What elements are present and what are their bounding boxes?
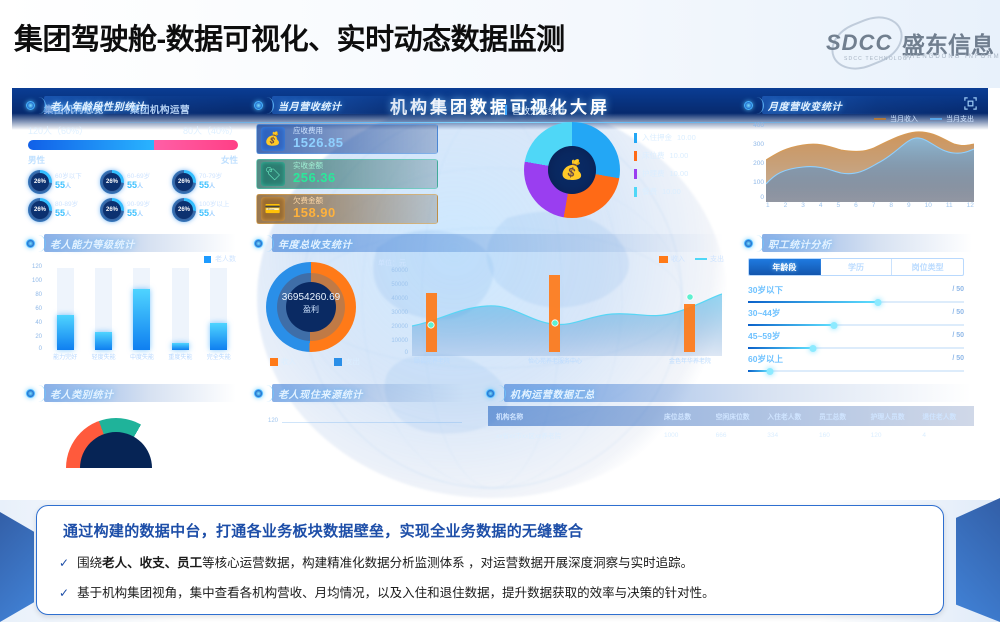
progress-knob[interactable] [874,299,881,306]
panel-header: 当月营收统计 [250,96,480,116]
bar-column [57,268,74,350]
panel-title: 老人能力等级统计 [50,236,135,251]
th-resident-count: 入住老人数 [767,411,819,421]
legend-swatch [270,358,278,366]
employee-age-label: 30岁以下 [748,284,783,296]
panel-annual-revenue: 年度总收支统计 36954260.69 盈利 收入 支出 单位：元 收入 支出 … [250,234,732,376]
tab-age-group[interactable]: 年龄段 [749,259,821,275]
check-icon: ✓ [59,556,69,570]
company-logo: SDCC 盛东信息 SDCC TECHNOLOGY SHENGDONG INFO… [824,18,992,70]
chart-legend: 老人数 [204,254,236,264]
x-tick: 金色年华养老院 [669,356,711,365]
legend-label: 收入 [281,356,296,367]
legend-swatch [930,118,942,120]
y-tick: 20 [35,334,42,340]
legend-item-income: 收入 [659,254,685,264]
received-text: 实收金额 256.36 [293,162,336,186]
bar-total [210,323,227,350]
x-tick: 5 [837,202,841,209]
y-tick: 200 [753,160,764,167]
panel-header: 年度总收支统计 [250,234,732,254]
panel-header: 职工统计分析 [740,234,980,254]
chart-x-axis: 1 2 3 4 5 6 7 8 9 10 11 12 [766,202,974,209]
legend-item: 餐费 10.00 [634,186,696,197]
age-range-unit: 人 [137,184,143,190]
panel-elderly-age-gender: 老人年龄段性别统计 120人（60%） 80人（40%） 男性 女性 60岁以下… [22,96,244,228]
age-ring-icon [100,170,124,194]
progress-track[interactable] [748,347,964,349]
th-staff-total: 员工总数 [819,411,871,421]
bar-moderate [133,289,150,350]
legend-swatch [334,358,342,366]
panel-elderly-category: 老人类别统计 [22,384,244,504]
y-tick: 50000 [391,282,408,288]
td-resident-count: 334 [767,432,819,439]
age-range-count: 55 [127,208,137,218]
x-tick: 中度失能 [126,352,158,361]
legend-label: 老人数 [215,254,236,264]
age-ring-icon [172,170,196,194]
panel-revenue-category: 营收分类统计 💰 入住押金 10.00 床位费 10.00 护理费 10.00 … [482,102,732,228]
legend-item-income: 收入 [270,356,296,367]
annual-profit-label: 盈利 [252,305,370,315]
employee-row: 60岁以上 5/ 50 [748,353,964,379]
legend-item: 入住押金 10.00 [634,132,696,143]
arrears-text: 欠费金额 158.90 [293,197,336,221]
legend-swatch [204,256,211,263]
source-gridline [282,422,462,423]
age-range-value: 55人 [199,209,229,219]
left-blue-decoration [0,512,34,622]
x-tick: 完全失能 [203,352,235,361]
td-free-beds: 666 [716,432,768,439]
receivable-text: 应收费用 1526.85 [293,127,344,151]
employee-age-label: 30~44岁 [748,307,780,319]
bar-column [133,268,150,350]
age-ring-text: 60-69岁 55人 [127,173,150,190]
chart-y-axis: 400 300 200 100 0 [740,122,766,202]
legend-value: 10.00 [662,187,681,196]
annual-center-text: 36954260.69 盈利 [252,292,370,315]
employee-count: 30 [939,280,952,294]
female-label: 女性 [221,154,238,166]
bar-column [210,268,227,350]
gender-labels: 男性 女性 [28,154,238,166]
x-tick: 颐福苑养老院 [414,356,450,365]
legend-item-expense: 支出 [695,254,724,264]
cash-box-icon: 🏷 [261,162,285,186]
male-label: 男性 [28,154,45,166]
debt-icon: 💳 [261,197,285,221]
bar-ability-good [57,315,74,350]
legend-label: 护理费 [642,168,665,179]
age-ring-text: 100岁以上 55人 [199,201,229,218]
legend-label: 入住押金 [642,132,672,143]
legend-label: 支出 [345,356,360,367]
chart-legend: 当月收入 当月支出 [874,114,974,124]
y-tick: 30000 [391,310,408,316]
y-tick: 100 [753,179,764,186]
institution-chart-legend: 收入 支出 [659,254,724,264]
arrears-value: 158.90 [293,206,336,221]
revenue-category-legend: 入住押金 10.00 床位费 10.00 护理费 10.00 餐费 10.00 [634,132,696,204]
age-ring-icon [100,198,124,222]
panel-header: 老人能力等级统计 [22,234,244,254]
progress-knob[interactable] [831,322,838,329]
employee-value: 30/ 50 [939,280,964,294]
received-row: 🏷 实收金额 256.36 [256,159,438,189]
age-ring-item: 100岁以上 55人 [172,198,244,222]
panel-title: 老人年龄段性别统计 [50,98,145,113]
age-range-count: 55 [127,180,137,190]
y-tick: 60000 [391,268,408,274]
legend-swatch [634,133,637,143]
td-total-beds: 1000 [664,432,716,439]
receivable-row: 💰 应收费用 1526.85 [256,124,438,154]
panel-monthly-revenue-chart: 月度营收变统计 当月收入 当月支出 400 300 200 100 0 [740,96,980,226]
employee-value: 5/ 50 [946,349,964,363]
callout-item-1: ✓围绕老人、收支、员工等核心运营数据，构建精准化数据分析监测体系 ，对运营数据开… [59,552,693,571]
age-range-value: 55人 [127,181,150,191]
annual-profit-value: 36954260.69 [252,292,370,305]
y-tick: 10000 [391,338,408,344]
age-ring-text: 60岁以下 55人 [55,173,82,190]
panel-title: 当月营收统计 [278,98,342,113]
legend-label: 支出 [710,254,724,264]
x-tick: 能力完好 [49,352,81,361]
x-tick: 6 [854,202,858,209]
y-tick: 0 [405,350,408,356]
panel-elderly-ability-level: 老人能力等级统计 老人数 120 100 80 60 40 20 0 [22,234,244,376]
th-free-beds: 空闲床位数 [716,411,768,421]
slide-header: 集团驾驶舱-数据可视化、实时动态数据监测 SDCC 盛东信息 SDCC TECH… [0,0,1000,88]
institution-chart-plot [412,268,722,352]
tab-education[interactable]: 学历 [821,259,893,275]
panel-header: 机构运营数据汇总 [482,384,980,404]
legend-label: 收入 [671,254,685,264]
logo-en-name: SHENGDONG INFORMATION [904,54,1000,60]
employee-total: / 50 [952,286,964,293]
panel-employee-statistics: 职工统计分析 年龄段 学历 岗位类型 30岁以下 30/ 50 30~44岁 2… [740,234,980,376]
female-count-text: 80人（40%） [183,124,238,137]
institution-table: 机构名称 床位总数 空闲床位数 入住老人数 员工总数 护理人员数 退住老人数 x… [488,406,974,444]
received-value: 256.36 [293,171,336,186]
age-ring-icon [28,170,52,194]
legend-item: 护理费 10.00 [634,168,696,179]
y-tick: 120 [32,264,42,270]
panel-header: 老人年龄段性别统计 [22,96,244,116]
callout-text-1-bold: 老人、收支、员工 [102,556,202,570]
chart-y-axis: 120 100 80 60 40 20 0 [22,264,44,350]
td-checkout-count: 4 [922,432,974,439]
x-tick: 7 [872,202,876,209]
chart-y-axis: 60000 50000 40000 30000 20000 10000 0 [374,268,410,352]
area-chart-svg [766,126,974,202]
progress-fill [748,347,813,349]
td-institution-name: xx省xx市xx区xx养老院 [488,430,664,440]
age-range-count: 55 [55,180,65,190]
employee-count: 15 [939,326,952,340]
age-ring-icon [172,198,196,222]
panel-title: 老人类别统计 [50,386,114,401]
annual-legend: 收入 支出 [270,356,360,367]
progress-fill [748,301,878,303]
y-tick: 20000 [391,324,408,330]
bar-severe [172,343,189,350]
panel-header: 月度营收变统计 [740,96,980,116]
right-blue-decoration [956,498,1000,622]
legend-value: 10.00 [670,151,689,160]
legend-item: 床位费 10.00 [634,150,696,161]
y-tick: 80 [35,292,42,298]
age-range-count: 55 [55,208,65,218]
y-tick: 40000 [391,296,408,302]
panel-title: 职工统计分析 [768,236,832,251]
age-range-value: 55人 [55,181,82,191]
panel-elderly-source: 老人现住来源统计 120 [250,384,472,504]
panel-institution-summary: 机构运营数据汇总 机构名称 床位总数 空闲床位数 入住老人数 员工总数 护理人员… [482,384,980,504]
chart-unit-label: 单位：元 [378,258,406,268]
age-range-unit: 人 [209,212,215,218]
legend-item-expense: 支出 [334,356,360,367]
age-range-value: 55人 [199,181,222,191]
panel-title: 营收分类统计 [512,104,566,117]
progress-track[interactable] [748,324,964,326]
y-tick: 400 [753,122,764,129]
money-bag-icon: 💰 [261,127,285,151]
bar-track [172,268,189,350]
td-nurse-count: 120 [871,432,923,439]
age-ring-item: 80-89岁 55人 [28,198,100,222]
employee-age-label: 60岁以上 [748,353,783,365]
panel-header: 老人类别统计 [22,384,244,404]
y-tick: 0 [39,346,42,352]
employee-value: 20/ 50 [939,303,964,317]
legend-value: 10.00 [677,133,696,142]
chart-x-axis: 能力完好 轻度失能 中度失能 重度失能 完全失能 [46,352,238,361]
dashboard-screenshot: 机构集团数据可视化大屏 集团机构总览 集团机构运营 老人年龄段性别统计 120人… [12,88,988,508]
callout-title: 通过构建的数据中台，打通各业务板块数据壁垒，实现全业务数据的无缝整合 [63,520,583,541]
th-total-beds: 床位总数 [664,411,716,421]
progress-fill [748,324,834,326]
x-tick: 10 [925,202,932,209]
progress-track[interactable] [748,370,964,372]
logo-mark: SDCC [826,30,892,56]
page-title: 集团驾驶舱-数据可视化、实时动态数据监测 [14,16,565,58]
progress-knob[interactable] [766,368,773,375]
employee-tabs[interactable]: 年龄段 学历 岗位类型 [748,258,964,276]
summary-callout: 通过构建的数据中台，打通各业务板块数据壁垒，实现全业务数据的无缝整合 ✓围绕老人… [36,505,944,615]
male-count-text: 120人（60%） [28,124,88,137]
legend-label: 床位费 [642,150,665,161]
age-ring-item: 90-99岁 55人 [100,198,172,222]
progress-track[interactable] [748,301,964,303]
x-tick: 8 [889,202,893,209]
legend-label: 当月支出 [946,114,974,124]
age-ring-grid: 60岁以下 55人 60-69岁 55人 70-79岁 55人 [28,170,244,222]
age-ring-text: 80-89岁 55人 [55,201,78,218]
panel-title: 年度总收支统计 [278,236,352,251]
th-nurse-count: 护理人员数 [871,411,923,421]
th-checkout-count: 退住老人数 [922,411,974,421]
x-tick: 9 [907,202,911,209]
callout-text-1-prefix: 围绕 [77,556,102,570]
x-tick: 重度失能 [164,352,196,361]
legend-label: 当月收入 [890,114,918,124]
y-tick: 100 [32,278,42,284]
legend-swatch [659,256,668,263]
age-range-unit: 人 [137,212,143,218]
legend-label: 餐费 [642,186,657,197]
money-bag-icon: 💰 [524,146,620,194]
bar-chart-bars [46,268,238,350]
employee-total: / 50 [952,309,964,316]
bar-column [172,268,189,350]
callout-item-2: ✓基于机构集团视角，集中查看各机构营收、月均情况，以及入住和退住数据，提升数据获… [59,582,715,601]
receivable-value: 1526.85 [293,136,344,151]
age-ring-icon [28,198,52,222]
panel-title: 月度营收变统计 [768,98,842,113]
employee-total: / 50 [952,332,964,339]
tab-position-type[interactable]: 岗位类型 [892,259,963,275]
chart-plot-area [766,126,974,198]
callout-text-1-suffix: 等核心运营数据，构建精准化数据分析监测体系 ，对运营数据开展深度洞察与实时追踪。 [202,556,693,570]
legend-item-expense: 当月支出 [930,114,974,124]
legend-item-income: 当月收入 [874,114,918,124]
age-ring-text: 70-79岁 55人 [199,173,222,190]
age-range-unit: 人 [65,184,71,190]
x-tick: 2 [784,202,788,209]
age-ring-item: 60-69岁 55人 [100,170,172,194]
x-tick: 轻度失能 [88,352,120,361]
employee-total: / 50 [952,355,964,362]
callout-text-2: 基于机构集团视角，集中查看各机构营收、月均情况，以及入住和退住数据，提升数据获取… [77,586,715,600]
panel-current-month-revenue: 当月营收统计 💰 应收费用 1526.85 🏷 实收金额 256.36 💳 欠费… [250,96,480,228]
y-tick: 300 [753,141,764,148]
legend-value: 10.00 [670,169,689,178]
x-tick: 11 [946,202,953,209]
age-range-value: 55人 [127,209,150,219]
age-ring-item: 60岁以下 55人 [28,170,100,194]
elderly-category-gauge [66,418,166,468]
age-ring-text: 90-99岁 55人 [127,201,150,218]
source-y-tick: 120 [268,418,278,424]
gender-counts: 120人（60%） 80人（40%） [28,124,238,137]
legend-swatch [634,151,637,161]
th-institution-name: 机构名称 [488,411,664,421]
gender-bar-male [28,140,154,150]
x-tick: 1 [766,202,770,209]
gender-bar-female [154,140,238,150]
employee-value: 15/ 50 [939,326,964,340]
age-range-count: 55 [199,208,209,218]
progress-knob[interactable] [809,345,816,352]
employee-age-label: 45~59岁 [748,330,780,342]
x-tick: 3 [801,202,805,209]
age-range-unit: 人 [65,212,71,218]
age-ring-item: 70-79岁 55人 [172,170,244,194]
legend-swatch [634,187,637,197]
legend-swatch [634,169,637,179]
y-tick: 60 [35,306,42,312]
gender-ratio-bar [28,140,238,150]
institution-chart-svg [412,268,722,356]
x-tick: 12 [967,202,974,209]
bar-column [95,268,112,350]
employee-count: 20 [939,303,952,317]
x-tick: 怡心苑养老服务中心 [528,356,582,365]
table-header-row: 机构名称 床位总数 空闲床位数 入住老人数 员工总数 护理人员数 退住老人数 [488,406,974,426]
panel-header: 老人现住来源统计 [250,384,472,404]
panel-title: 机构运营数据汇总 [510,386,595,401]
age-range-unit: 人 [209,184,215,190]
y-tick: 0 [760,194,764,201]
age-range-value: 55人 [55,209,78,219]
x-tick: 4 [819,202,823,209]
bar-mild [95,332,112,350]
panel-title: 老人现住来源统计 [278,386,363,401]
logo-en-small: SDCC TECHNOLOGY [844,56,912,62]
legend-swatch [874,118,886,120]
table-row[interactable]: xx省xx市xx区xx养老院 1000 666 334 160 120 4 [488,426,974,444]
legend-swatch [695,258,707,260]
age-range-count: 55 [199,180,209,190]
arrears-row: 💳 欠费金额 158.90 [256,194,438,224]
td-staff-total: 160 [819,432,871,439]
check-icon: ✓ [59,586,69,600]
y-tick: 40 [35,320,42,326]
